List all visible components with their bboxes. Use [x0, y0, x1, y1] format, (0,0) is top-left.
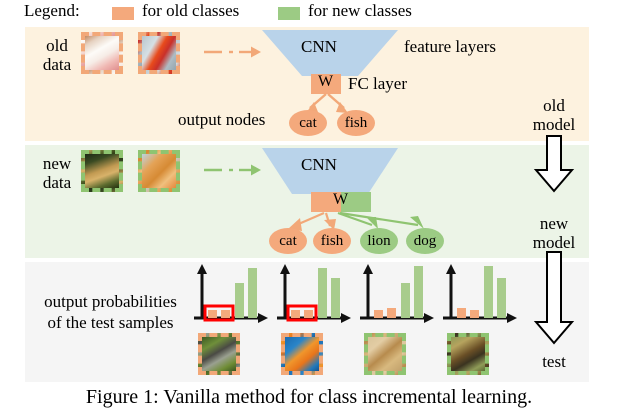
figure-root: Legend: for old classes for new classes …: [0, 0, 618, 414]
w-label-new: W: [333, 191, 348, 209]
dog-thumbnail: [138, 150, 180, 192]
feature-layers-label: feature layers: [404, 37, 496, 57]
row-label-new-line1: new: [28, 154, 86, 173]
output-node-dog-new: dog: [406, 228, 444, 254]
w-label-old: W: [318, 73, 333, 91]
output-node-fish-old: fish: [337, 110, 375, 136]
output-node-lion-new: lion: [360, 228, 398, 254]
lion-thumbnail: [81, 150, 123, 192]
green-square-swatch-icon: [278, 7, 300, 20]
new-model-line1: new: [514, 214, 594, 233]
legend-item-new-label: for new classes: [308, 1, 412, 21]
output-node-fish-new: fish: [313, 228, 351, 254]
dash-dot-arrow-new-icon: [204, 161, 262, 179]
fc-layer-label: FC layer: [348, 74, 407, 94]
bar-chart-dog-sample: [358, 264, 436, 330]
new-model-line2: model: [514, 233, 594, 252]
output-probabilities-line2: of the test samples: [28, 312, 193, 333]
new-model-label: new model: [514, 214, 594, 252]
fish-thumbnail: [138, 32, 180, 74]
row-label-old-data: old data: [28, 36, 86, 74]
bar-chart-lion-sample: [441, 264, 519, 330]
output-nodes-label: output nodes: [178, 110, 265, 130]
dash-dot-arrow-old-icon: [204, 43, 262, 61]
old-model-label: old model: [514, 96, 594, 134]
cnn-label-old: CNN: [301, 37, 337, 57]
old-model-line1: old: [514, 96, 594, 115]
dog-test-thumbnail: [364, 333, 406, 375]
legend: Legend: for old classes for new classes: [0, 0, 618, 26]
output-node-cat-new: cat: [269, 228, 307, 254]
down-arrow-old-to-new-icon: [534, 136, 574, 192]
row-label-new-line2: data: [28, 173, 86, 192]
cnn-label-new: CNN: [301, 155, 337, 175]
bar-chart-cat-sample: [192, 264, 270, 330]
output-node-cat-old: cat: [289, 110, 327, 136]
legend-item-old-label: for old classes: [142, 1, 239, 21]
row-label-new-data: new data: [28, 154, 86, 192]
test-label: test: [514, 352, 594, 371]
cat-thumbnail: [81, 32, 123, 74]
down-arrow-new-to-test-icon: [534, 252, 574, 344]
bar-chart-fish-sample: [275, 264, 353, 330]
row-label-old-line2: data: [28, 55, 86, 74]
lion-test-thumbnail: [447, 333, 489, 375]
output-probabilities-label: output probabilities of the test samples: [28, 291, 193, 333]
orange-square-swatch-icon: [112, 7, 134, 20]
output-probabilities-line1: output probabilities: [28, 291, 193, 312]
old-model-line2: model: [514, 115, 594, 134]
legend-title: Legend:: [24, 1, 80, 21]
figure-caption: Figure 1: Vanilla method for class incre…: [6, 386, 612, 409]
row-label-old-line1: old: [28, 36, 86, 55]
cat-test-thumbnail: [198, 333, 240, 375]
fish-test-thumbnail: [281, 333, 323, 375]
